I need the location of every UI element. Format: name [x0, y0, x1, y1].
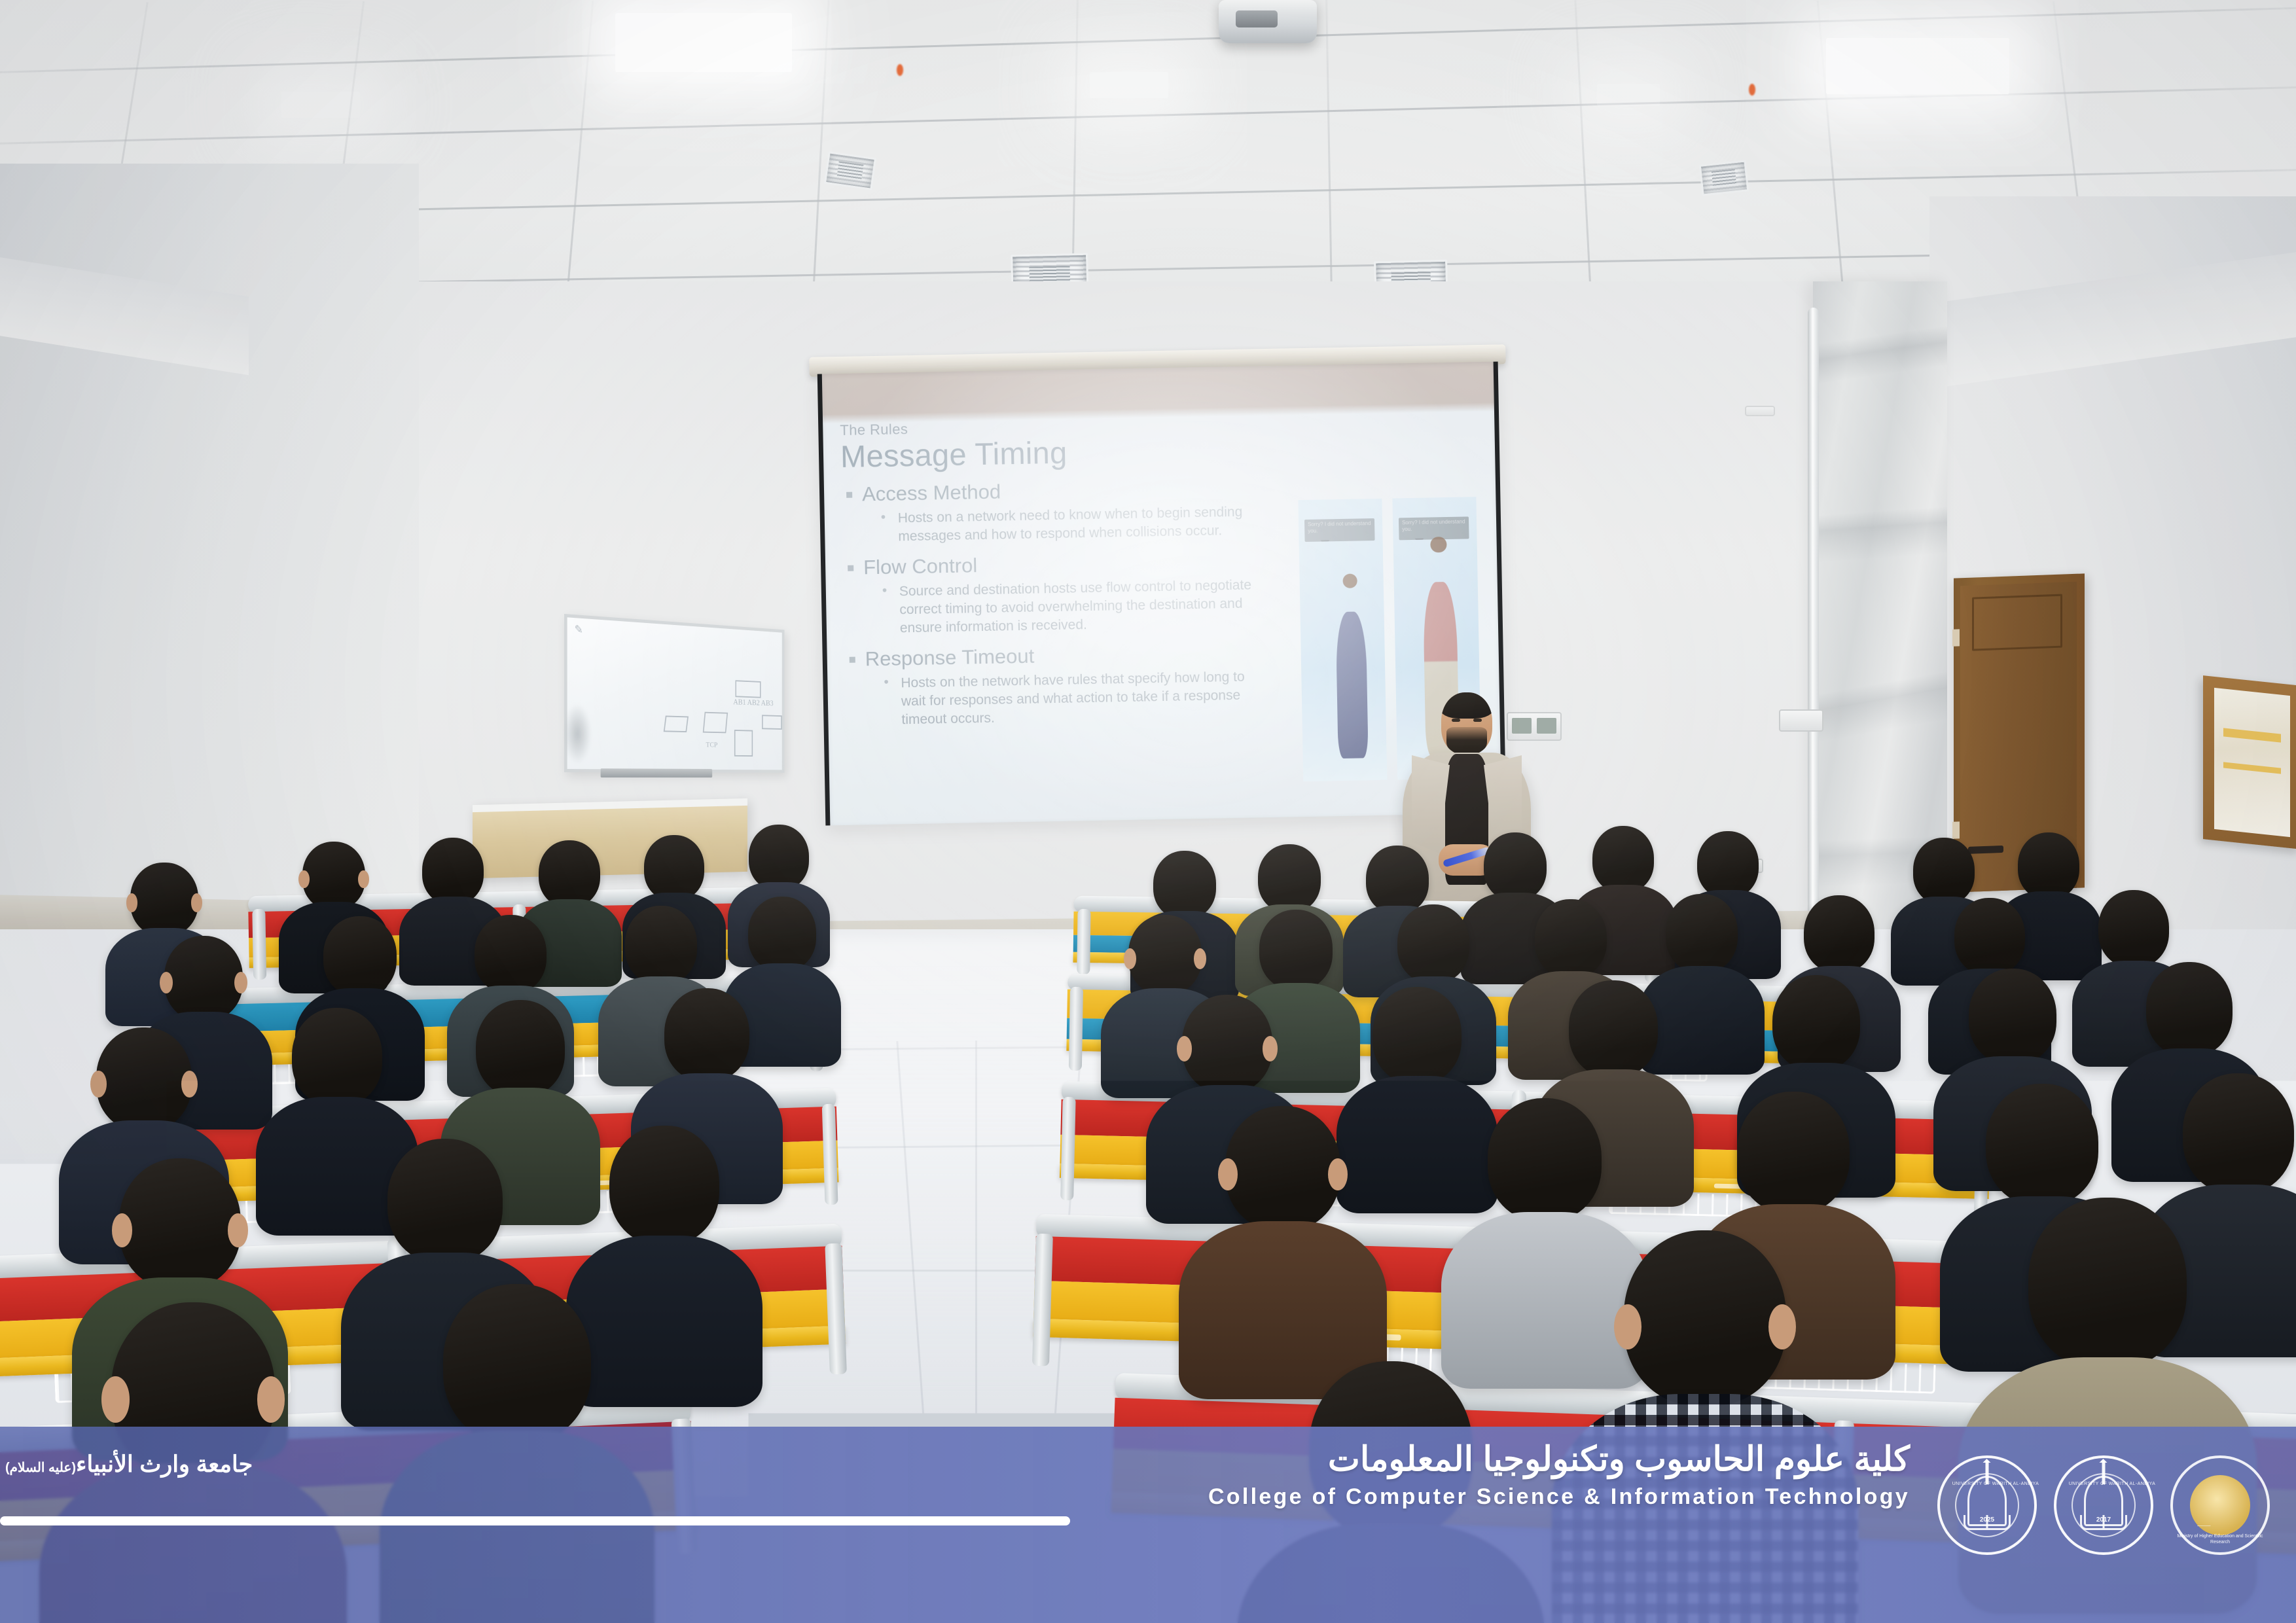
institution-seals: UNIVERSITY OF WARITH AL-ANBIYA 2025 UNIV… — [1937, 1455, 2270, 1555]
whiteboard-sketch — [734, 730, 753, 757]
lecture-hall-photo: ✎ AB1 AB2 AB3 TCP The Rules Message Timi… — [0, 0, 2296, 1623]
smoke-detector-led — [897, 64, 903, 76]
whiteboard-sketch — [735, 680, 761, 698]
whiteboard-sketch — [762, 715, 782, 730]
university-name-arabic: جامعة وارث الأنبياء(عليه السلام) — [5, 1452, 253, 1478]
ceiling-light-panel — [1826, 38, 2009, 94]
ceiling-light-panel — [1090, 72, 1168, 98]
framed-wall-picture — [2203, 675, 2296, 849]
hair — [1441, 692, 1492, 719]
figure-person — [1335, 611, 1368, 758]
slide-bullet-body: Hosts on a network need to know when to … — [898, 503, 1265, 546]
whiteboard-sketch — [703, 712, 728, 734]
seal-year: 2017 — [2096, 1516, 2111, 1524]
speech-bubble: Sorry? I did not understand you. — [1399, 516, 1469, 540]
presentation-slide: The Rules Message Timing Access Method H… — [840, 410, 1486, 812]
speech-bubble: Sorry? I did not understand you. — [1304, 518, 1375, 542]
university-name-ar-text: جامعة وارث الأنبياء — [76, 1452, 253, 1477]
university-seal-logo: UNIVERSITY OF WARITH AL-ANBIYA 2017 — [2054, 1455, 2153, 1555]
whiteboard-sketch — [664, 715, 689, 732]
door-panel — [1972, 594, 2062, 651]
banner-divider-rule — [0, 1516, 1070, 1525]
college-seal-logo: UNIVERSITY OF WARITH AL-ANBIYA 2025 — [1937, 1455, 2037, 1555]
bottom-branding-banner: جامعة وارث الأنبياء(عليه السلام) كلية عل… — [0, 1427, 2296, 1623]
presenter-head — [1441, 692, 1492, 755]
ministry-seal-logo: Ministry of Higher Education and Scienti… — [2170, 1455, 2270, 1555]
whiteboard: ✎ AB1 AB2 AB3 TCP — [564, 614, 785, 773]
hvac-vent — [824, 151, 876, 190]
seal-ring-text: Ministry of Higher Education and Scienti… — [2173, 1534, 2267, 1546]
wall-outlet[interactable] — [1745, 406, 1775, 416]
slide-bullet-body: Source and destination hosts use flow co… — [899, 576, 1266, 637]
ceiling-light-panel — [1597, 84, 1660, 106]
college-name-arabic: كلية علوم الحاسوب وتكنولوجيا المعلومات — [1208, 1440, 1910, 1479]
whiteboard-marker-tray — [601, 768, 713, 777]
beard — [1446, 727, 1487, 755]
college-name-block: كلية علوم الحاسوب وتكنولوجيا المعلومات C… — [1208, 1440, 1910, 1510]
ceiling-light-panel — [281, 92, 360, 118]
seal-year: 2025 — [1980, 1516, 1994, 1524]
door-handle[interactable] — [1968, 846, 2003, 854]
college-name-english: College of Computer Science & Informatio… — [1208, 1484, 1910, 1510]
ceiling-light-panel — [615, 13, 792, 72]
smoke-detector-led — [1749, 84, 1755, 96]
hvac-vent — [1699, 160, 1749, 196]
wall-outlet[interactable] — [1779, 709, 1823, 732]
university-name-ar-suffix: (عليه السلام) — [5, 1461, 76, 1475]
lectern-podium — [473, 798, 747, 878]
slide-bullet-body: Hosts on the network have rules that spe… — [901, 668, 1268, 729]
room-scene: ✎ AB1 AB2 AB3 TCP The Rules Message Timi… — [0, 0, 2296, 1623]
slide-figure: Sorry? I did not understand you. — [1298, 499, 1387, 781]
ceiling-projector — [1219, 0, 1317, 43]
